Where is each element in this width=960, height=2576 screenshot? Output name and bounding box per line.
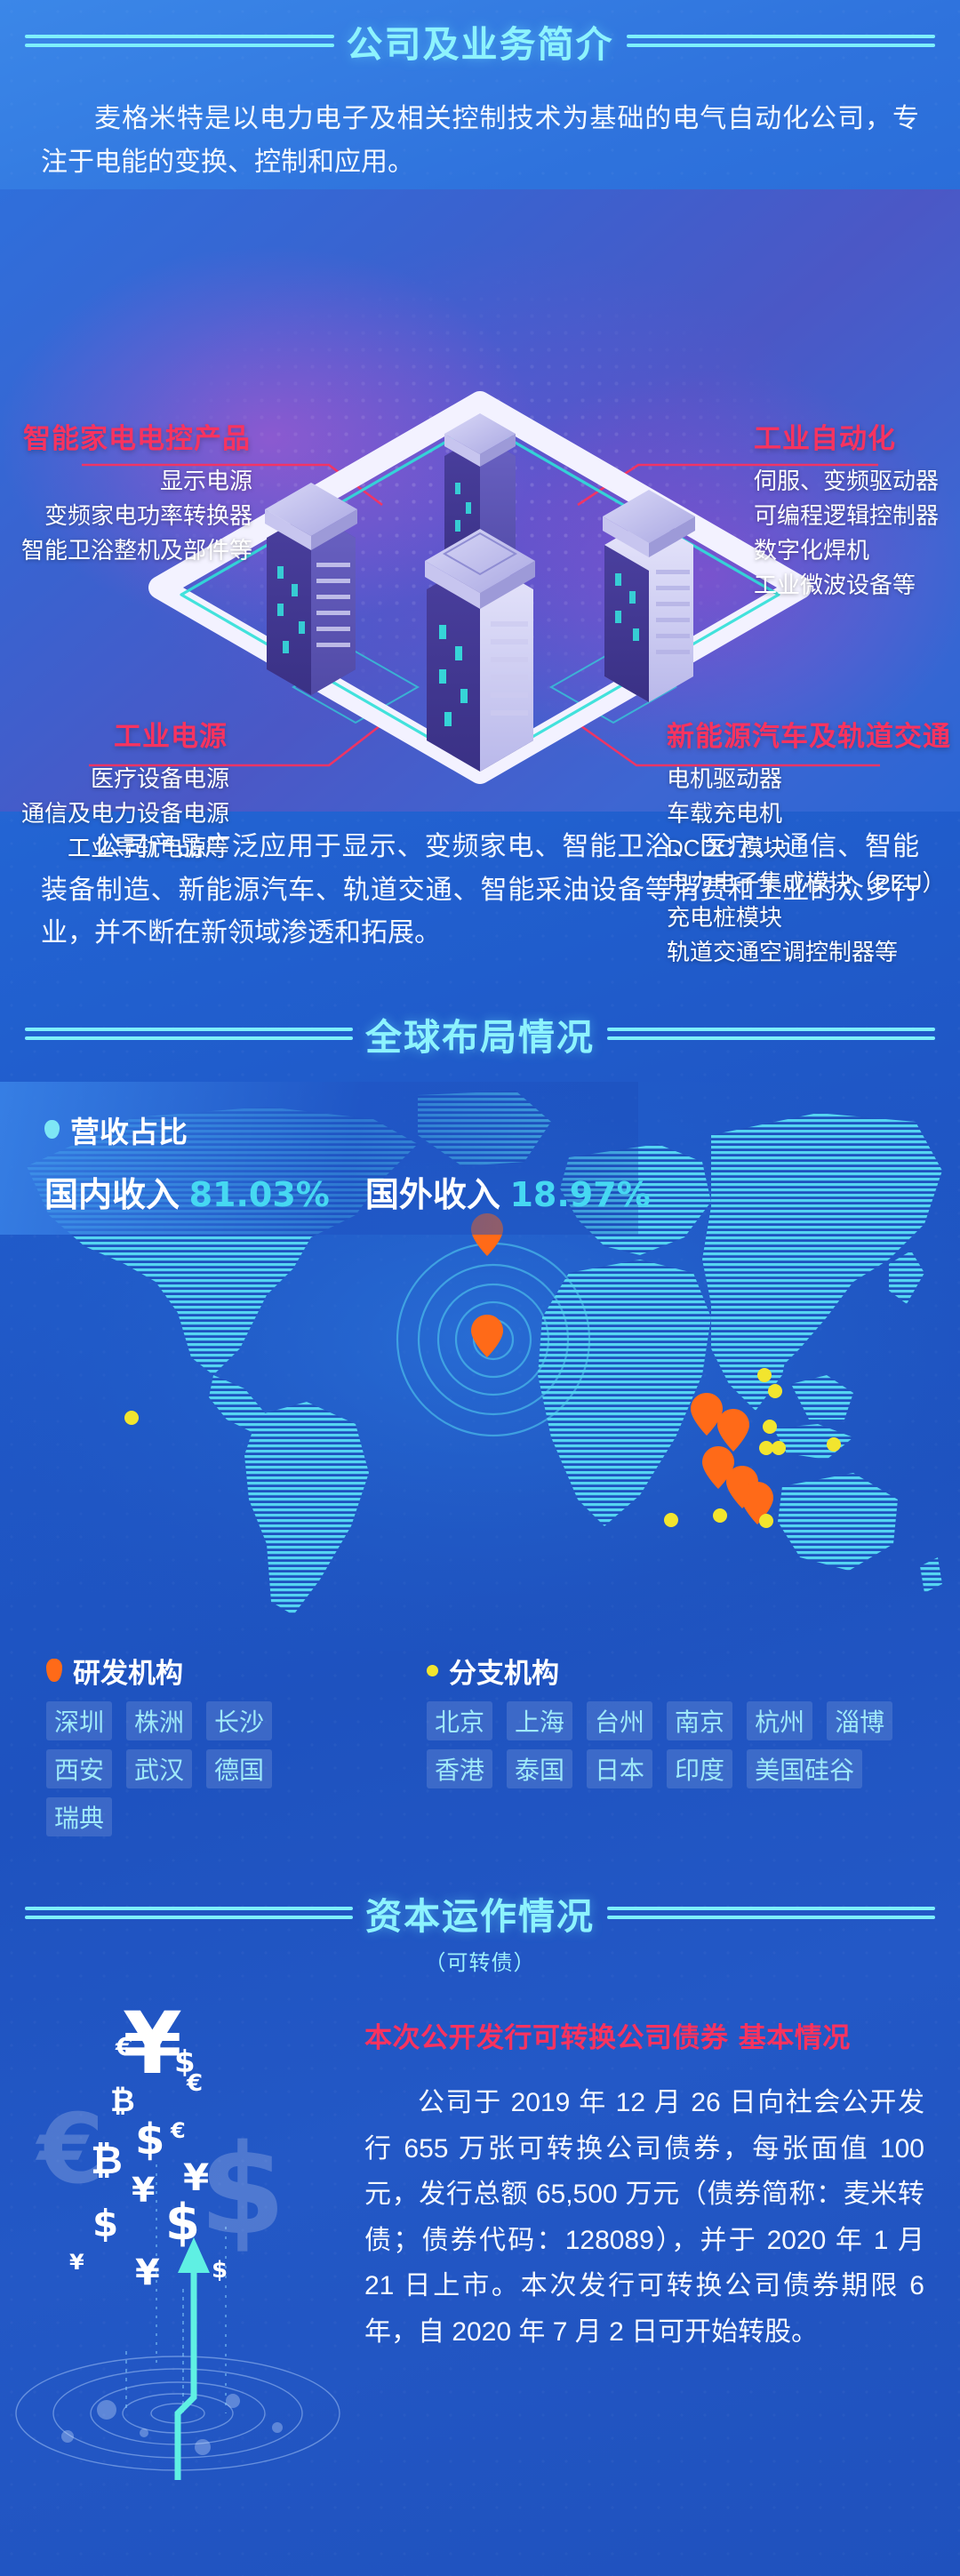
world-map-section: 营收占比 国内收入 81.03% 国外收入 18.97%: [0, 1082, 960, 1651]
city-chip: 西安: [46, 1749, 112, 1788]
category-title: 工业电源: [21, 714, 238, 754]
city-chip: 淄博: [827, 1701, 892, 1740]
bond-body-text: 公司于 2019 年 12 月 26 日向社会公开发行 655 万张可转换公司债…: [364, 2080, 924, 2356]
city-chip: 长沙: [206, 1701, 272, 1740]
category-item-list: 伺服、变频驱动器 可编程逻辑控制器 数字化焊机 工业微波设备等: [743, 464, 939, 603]
currency-glyph-euro: $: [92, 2205, 118, 2243]
spacer: [0, 812, 960, 826]
category-item: 电机驱动器: [667, 762, 951, 796]
spacer: [0, 1060, 960, 1082]
top-spacer: [0, 0, 960, 14]
currency-glyph-dollar: $: [212, 2259, 228, 2282]
city-list: 北京 上海 台州 南京 杭州 淄博 香港 泰国 日本 印度 美国硅谷: [427, 1701, 914, 1788]
divider-line-right: [607, 1027, 935, 1041]
currency-glyph-ghost: $: [199, 2129, 285, 2253]
institutions-row: 研发机构 深圳 株洲 长沙 西安 武汉 德国 瑞典 分支机构 北京 上海 台州 …: [0, 1651, 960, 1836]
divider-line-right: [627, 34, 936, 48]
institution-title: 分支机构: [449, 1651, 559, 1691]
bond-info-block: 本次公开发行可转换公司债券 基本情况 公司于 2019 年 12 月 26 日向…: [356, 1996, 960, 2493]
city-chip: 瑞典: [46, 1797, 112, 1836]
currency-glyph-yen: ¥: [135, 2255, 160, 2291]
city-chip: 杭州: [747, 1701, 812, 1740]
institution-heading: 研发机构: [46, 1651, 384, 1691]
institution-group-branch: 分支机构 北京 上海 台州 南京 杭州 淄博 香港 泰国 日本 印度 美国硅谷: [427, 1651, 914, 1836]
section-subtitle-capital: （可转债）: [0, 1945, 960, 1976]
city-chip: 株洲: [126, 1701, 192, 1740]
spacer: [0, 68, 960, 98]
currency-glyph-euro: €: [187, 2072, 203, 2095]
bullet-dot-icon: [44, 1120, 60, 1139]
city-chip: 泰国: [507, 1749, 572, 1788]
currency-glyph-dollar: $: [135, 2118, 164, 2161]
category-title: 工业自动化: [743, 416, 939, 456]
category-smart-home: 智能家电电控产品 显示电源 变频家电功率转换器 智能卫浴整机及部件等: [21, 416, 261, 568]
category-item: 数字化焊机: [754, 533, 939, 568]
spacer: [0, 1836, 960, 1886]
revenue-figures: 国内收入 81.03% 国外收入 18.97%: [44, 1167, 638, 1216]
tower-left: [265, 483, 357, 695]
divider-line-left: [25, 1906, 353, 1920]
city-chip: 美国硅谷: [747, 1749, 862, 1788]
overseas-revenue-label: 国外收入: [365, 1177, 500, 1214]
category-item: 智能卫浴整机及部件等: [21, 533, 252, 568]
category-item: 显示电源: [21, 464, 252, 499]
category-item: 工业微波设备等: [754, 568, 939, 603]
business-diagram: 智能家电电控产品 显示电源 变频家电功率转换器 智能卫浴整机及部件等 工业自动化…: [0, 189, 960, 812]
category-title: 新能源汽车及轨道交通: [656, 714, 951, 754]
currency-illustration: € $ ¥ € $ € ₿ ₿ $ € ¥ ¥ $ $ ¥ ¥ $: [0, 1996, 356, 2493]
city-chip: 香港: [427, 1749, 492, 1788]
spacer: [0, 956, 960, 1007]
section-header-global: 全球布局情况: [0, 1007, 960, 1060]
revenue-share-card: 营收占比 国内收入 81.03% 国外收入 18.97%: [0, 1082, 638, 1235]
domestic-revenue-label: 国内收入: [44, 1177, 180, 1214]
spacer: [0, 1976, 960, 1996]
city-list: 深圳 株洲 长沙 西安 武汉 德国 瑞典: [46, 1701, 348, 1836]
divider-line-left: [25, 34, 334, 48]
city-chip: 北京: [427, 1701, 492, 1740]
domestic-revenue-value: 81.03%: [189, 1175, 330, 1214]
overseas-revenue: 国外收入 18.97%: [365, 1167, 651, 1216]
divider-line-right: [607, 1906, 935, 1920]
city-chip: 台州: [587, 1701, 652, 1740]
currency-glyph-bitcoin: ₿: [91, 2141, 123, 2180]
city-chip: 德国: [206, 1749, 272, 1788]
category-item-list: 显示电源 变频家电功率转换器 智能卫浴整机及部件等: [21, 464, 261, 568]
tower-front-center: [425, 529, 535, 772]
domestic-revenue: 国内收入 81.03%: [44, 1167, 330, 1216]
city-chip: 日本: [587, 1749, 652, 1788]
city-chip: 深圳: [46, 1701, 112, 1740]
section-header-business: 公司及业务简介: [0, 14, 960, 68]
institution-heading: 分支机构: [427, 1651, 914, 1691]
orange-pin-icon: [46, 1659, 62, 1682]
revenue-label: 营收占比: [70, 1108, 188, 1151]
intro-paragraph-1: 麦格米特是以电力电子及相关控制技术为基础的电气自动化公司，专注于电能的变换、控制…: [0, 98, 960, 184]
category-item: 医疗设备电源: [21, 762, 229, 796]
category-item: 伺服、变频驱动器: [754, 464, 939, 499]
yellow-dot-icon: [427, 1665, 438, 1676]
section-header-capital: 资本运作情况: [0, 1886, 960, 1940]
currency-glyph-bitcoin: ₿: [110, 2086, 135, 2116]
institution-group-rd: 研发机构 深圳 株洲 长沙 西安 武汉 德国 瑞典: [46, 1651, 384, 1836]
growth-arrow-icon: [178, 2262, 194, 2480]
city-chip: 印度: [667, 1749, 732, 1788]
category-item: 可编程逻辑控制器: [754, 499, 939, 533]
currency-glyph-euro: €: [116, 2035, 132, 2060]
currency-glyph-dollar: $: [165, 2198, 200, 2248]
currency-glyph-euro: €: [171, 2120, 186, 2141]
divider-line-left: [25, 1027, 353, 1041]
institution-title: 研发机构: [73, 1651, 183, 1691]
tower-right: [603, 490, 695, 702]
category-title: 智能家电电控产品: [21, 416, 261, 456]
overseas-revenue-value: 18.97%: [509, 1175, 650, 1214]
section-title-global: 全球布局情况: [365, 1007, 595, 1060]
currency-glyph-euro: ¥: [69, 2252, 84, 2273]
city-chip: 武汉: [126, 1749, 192, 1788]
intro-paragraph-2: 公司产品广泛应用于显示、变频家电、智能卫浴、医疗、通信、智能装备制造、新能源汽车…: [0, 826, 960, 956]
city-chip: 南京: [667, 1701, 732, 1740]
capital-section-row: € $ ¥ € $ € ₿ ₿ $ € ¥ ¥ $ $ ¥ ¥ $ 本次公开发行…: [0, 1996, 960, 2493]
category-item: 变频家电功率转换器: [21, 499, 252, 533]
revenue-label-row: 营收占比: [44, 1108, 638, 1151]
category-industrial-automation: 工业自动化 伺服、变频驱动器 可编程逻辑控制器 数字化焊机 工业微波设备等: [743, 416, 939, 603]
bond-heading: 本次公开发行可转换公司债券 基本情况: [364, 2015, 924, 2055]
currency-glyph-yen: ¥: [183, 2159, 209, 2196]
section-title-business: 公司及业务简介: [347, 14, 614, 68]
section-title-capital: 资本运作情况: [365, 1886, 595, 1940]
currency-glyph-yen: ¥: [132, 2173, 155, 2207]
city-chip: 上海: [507, 1701, 572, 1740]
